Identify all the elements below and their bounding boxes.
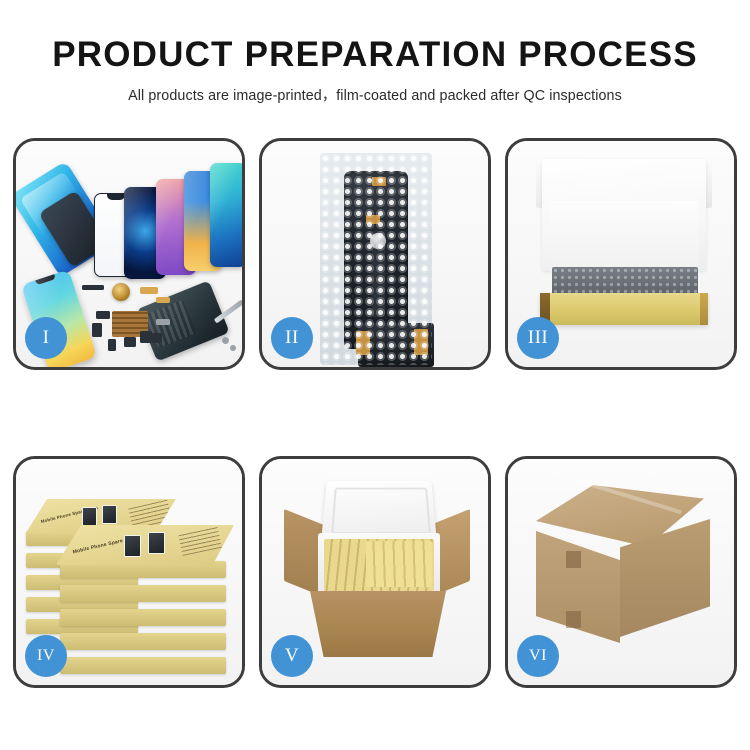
box-inner-wall-icon	[550, 201, 698, 273]
shield-plate-icon	[156, 319, 170, 325]
stack-box-front-5	[60, 657, 226, 674]
connector-a-icon	[96, 311, 110, 319]
stack-box-front-4	[60, 633, 226, 650]
speaker-coil-icon	[112, 283, 130, 301]
box-window-back-a	[82, 507, 97, 526]
box-window-front-a	[124, 535, 141, 557]
screw-a-icon	[222, 337, 229, 344]
vibration-motor-icon	[140, 331, 152, 343]
stack-box-front-top: Mobile Phone Spare Parts	[56, 525, 234, 565]
flex-cable-a-icon	[140, 287, 158, 294]
bubble-texture-icon	[320, 153, 432, 365]
page-subtitle: All products are image-printed，film-coat…	[0, 84, 750, 105]
box-window-front-b	[148, 532, 165, 554]
connector-b-icon	[92, 323, 102, 337]
retail-boxes-row-b-icon	[366, 541, 432, 587]
step-panel-2[interactable]: II	[259, 138, 491, 370]
step-badge-1: I	[25, 317, 67, 359]
stack-box-front-3	[60, 609, 226, 626]
step-badge-3: III	[517, 317, 559, 359]
sim-tray-icon	[124, 337, 136, 347]
button-part-icon	[152, 333, 162, 343]
process-steps-grid: I II	[13, 138, 737, 694]
product-preparation-infographic: PRODUCT PREPARATION PROCESS All products…	[0, 0, 750, 750]
flex-cable-b-icon	[156, 297, 170, 303]
step-panel-5[interactable]: V	[259, 456, 491, 688]
step-panel-4[interactable]: Mobile Phone Spare Parts Mobile Phone Sp…	[13, 456, 245, 688]
carton-tape-patch-b-icon	[566, 611, 581, 628]
step-badge-6: VI	[517, 635, 559, 677]
page-title: PRODUCT PREPARATION PROCESS	[0, 34, 750, 75]
bubble-wrap-bag-icon	[320, 153, 432, 365]
stack-box-front-2	[60, 585, 226, 602]
battery-strip-icon	[82, 285, 104, 290]
screw-b-icon	[230, 345, 236, 351]
camera-module-icon	[108, 339, 116, 351]
box-window-back-b	[102, 505, 117, 524]
header: PRODUCT PREPARATION PROCESS All products…	[0, 34, 750, 105]
box-spec-lines-front	[178, 526, 222, 556]
step-badge-2: II	[271, 317, 313, 359]
step-panel-1[interactable]: I	[13, 138, 245, 370]
carton-body-icon	[310, 591, 446, 657]
step-badge-4: IV	[25, 635, 67, 677]
carton-tape-patch-a-icon	[566, 551, 581, 568]
step-panel-6[interactable]: VI	[505, 456, 737, 688]
step-panel-3[interactable]: III	[505, 138, 737, 370]
box-spec-lines-back	[128, 499, 172, 529]
step-badge-5: V	[271, 635, 313, 677]
phone-teal-icon	[210, 163, 242, 267]
kraft-tray-icon	[540, 293, 708, 325]
